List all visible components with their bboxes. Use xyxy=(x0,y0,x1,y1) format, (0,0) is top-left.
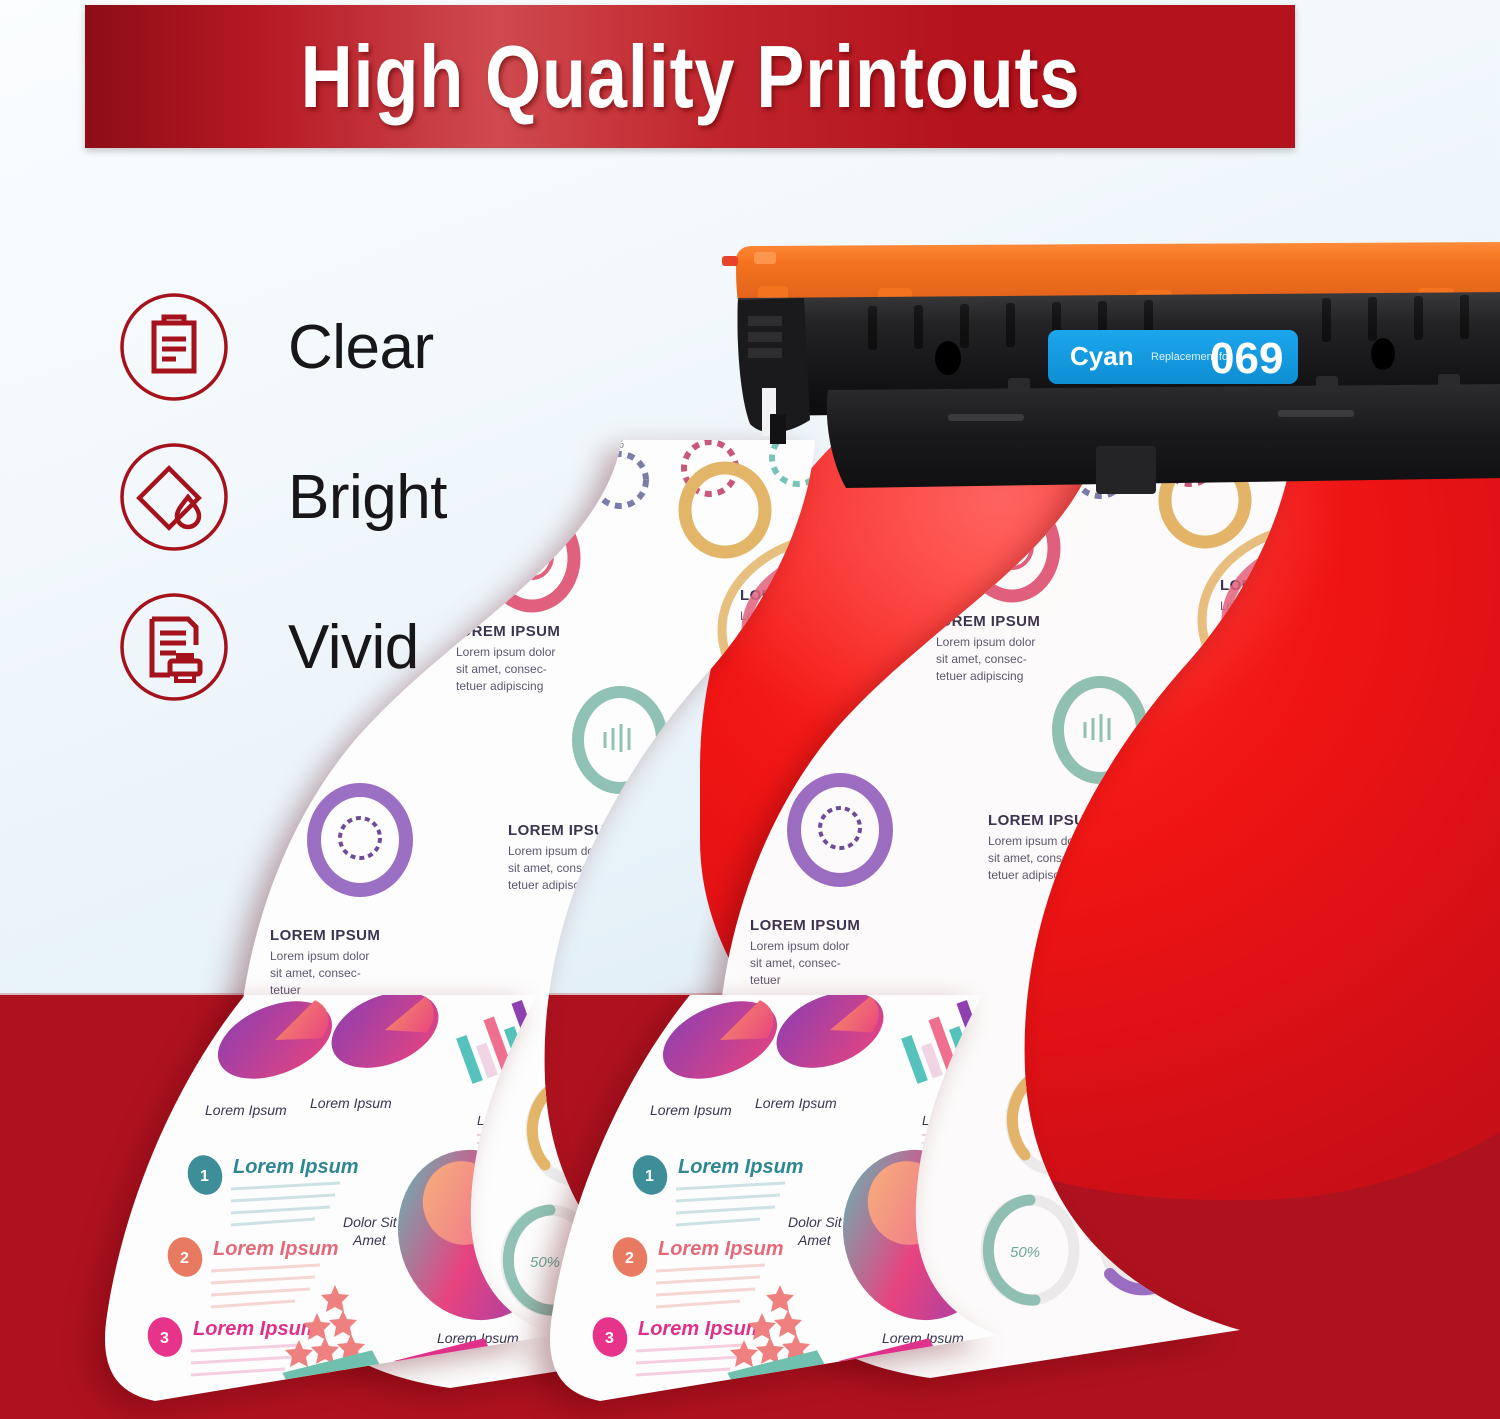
callout-label: Dolor Sit xyxy=(343,1214,398,1230)
svg-text:sit amet, consec-: sit amet, consec- xyxy=(988,851,1079,865)
svg-text:Lorem ipsum dolor: Lorem ipsum dolor xyxy=(936,635,1035,649)
callout-label: Amet xyxy=(352,1232,387,1248)
callout-label: Dolor Sit xyxy=(1012,1210,1067,1226)
svg-text:Lorem Ipsum: Lorem Ipsum xyxy=(638,1318,764,1340)
svg-text:tetuer adipiscing: tetuer adipiscing xyxy=(988,868,1075,882)
svg-text:1: 1 xyxy=(200,1168,209,1185)
svg-text:tetuer adipiscing: tetuer adipiscing xyxy=(1220,633,1307,647)
svg-text:30%: 30% xyxy=(1150,1102,1180,1119)
svg-text:3: 3 xyxy=(605,1330,614,1347)
svg-text:2: 2 xyxy=(180,1250,189,1267)
cartridge-drum-bar xyxy=(827,384,1500,494)
svg-text:Lorem Ipsum: Lorem Ipsum xyxy=(233,1156,359,1178)
cartridge-label: Cyan Replacement for 069 xyxy=(1048,330,1298,384)
svg-text:Lorem Ipsum: Lorem Ipsum xyxy=(678,1156,804,1178)
svg-text:sit amet, consec-: sit amet, consec- xyxy=(1220,616,1311,630)
svg-text:sit amet, consec-: sit amet, consec- xyxy=(456,662,547,676)
svg-text:sit amet, consec-: sit amet, consec- xyxy=(750,956,841,970)
label-color-name: Cyan xyxy=(1070,341,1134,371)
svg-text:80%: 80% xyxy=(1135,972,1165,989)
svg-text:LOREM IPSUM: LOREM IPSUM xyxy=(270,927,380,944)
svg-text:sit amet, consec-: sit amet, consec- xyxy=(508,861,599,875)
svg-text:1: 1 xyxy=(645,1168,654,1185)
caption-rule-lines xyxy=(922,1131,1008,1151)
svg-text:LOREM IPSUM: LOREM IPSUM xyxy=(750,917,860,934)
svg-text:Lorem ipsum dolor: Lorem ipsum dolor xyxy=(270,949,369,963)
svg-text:Lorem ipsum dolor: Lorem ipsum dolor xyxy=(988,834,1087,848)
svg-text:Lorem ipsum dolor: Lorem ipsum dolor xyxy=(456,645,555,659)
svg-text:LOREM IPSUM: LOREM IPSUM xyxy=(988,812,1098,829)
svg-text:tetuer adipiscing: tetuer adipiscing xyxy=(936,669,1023,683)
svg-text:Lorem Ipsum: Lorem Ipsum xyxy=(658,1238,784,1260)
chart-caption: Lorem Ipsum xyxy=(922,1113,998,1128)
svg-text:Lorem ipsum dolor: Lorem ipsum dolor xyxy=(1220,599,1319,613)
svg-text:Lorem Ipsum: Lorem Ipsum xyxy=(193,1318,319,1340)
cartridge-end-cap xyxy=(738,298,811,444)
svg-text:LOREM IPSUM: LOREM IPSUM xyxy=(508,822,618,839)
svg-text:sit amet, consec-: sit amet, consec- xyxy=(270,966,361,980)
svg-text:Dolor Sit Amet: Dolor Sit Amet xyxy=(848,1357,919,1379)
svg-text:Lorem ipsum dolor: Lorem ipsum dolor xyxy=(750,939,849,953)
page-title: High Quality Printouts xyxy=(300,26,1080,128)
feature-label-clear: Clear xyxy=(288,312,434,383)
chart-caption: Lorem Ipsum xyxy=(650,1102,732,1118)
callout-label: Dolor Sit xyxy=(788,1214,843,1230)
donut-gauge: 30% xyxy=(1126,1058,1214,1158)
svg-text:45%: 45% xyxy=(1135,917,1165,934)
svg-text:Dolor Sit Amet: Dolor Sit Amet xyxy=(403,1357,474,1379)
svg-text:tetuer adipiscing: tetuer adipiscing xyxy=(508,878,595,892)
cartridge-port xyxy=(935,341,961,375)
header-banner: High Quality Printouts xyxy=(85,5,1295,148)
chart-caption: Lorem Ipsum xyxy=(310,1095,392,1111)
toner-cartridge: Cyan Replacement for 069 xyxy=(718,238,1500,500)
svg-text:70%: 70% xyxy=(1130,1232,1160,1249)
svg-text:Lorem ipsum dolor: Lorem ipsum dolor xyxy=(508,844,607,858)
printed-sheet-lower-right: Lorem Ipsum Lorem Ipsum Lorem Ipsum 1 Lo… xyxy=(530,985,1090,1405)
svg-text:tetuer adipiscing: tetuer adipiscing xyxy=(456,679,543,693)
chart-caption: Lorem Ipsum xyxy=(205,1102,287,1118)
donut-gauge: 70% xyxy=(1104,1186,1196,1290)
label-model-number: 069 xyxy=(1210,334,1283,383)
svg-text:Lorem Ipsum: Lorem Ipsum xyxy=(213,1238,339,1260)
svg-text:LOREM IPSUM: LOREM IPSUM xyxy=(450,623,560,640)
svg-text:30%: 30% xyxy=(602,439,624,451)
svg-text:sit amet, consec-: sit amet, consec- xyxy=(936,652,1027,666)
feature-item-clear: Clear xyxy=(118,272,548,422)
cartridge-port xyxy=(1371,338,1395,370)
svg-text:30%: 30% xyxy=(1135,862,1165,879)
svg-text:LOREM IPSUM: LOREM IPSUM xyxy=(930,613,1040,630)
svg-text:2: 2 xyxy=(625,1250,634,1267)
svg-text:60%: 60% xyxy=(1135,1027,1165,1044)
callout-label: Amet xyxy=(1021,1228,1056,1244)
chart-caption: Lorem Ipsum xyxy=(755,1095,837,1111)
svg-text:3: 3 xyxy=(160,1330,169,1347)
callout-label: Amet xyxy=(797,1232,832,1248)
document-lines-icon xyxy=(118,291,230,403)
